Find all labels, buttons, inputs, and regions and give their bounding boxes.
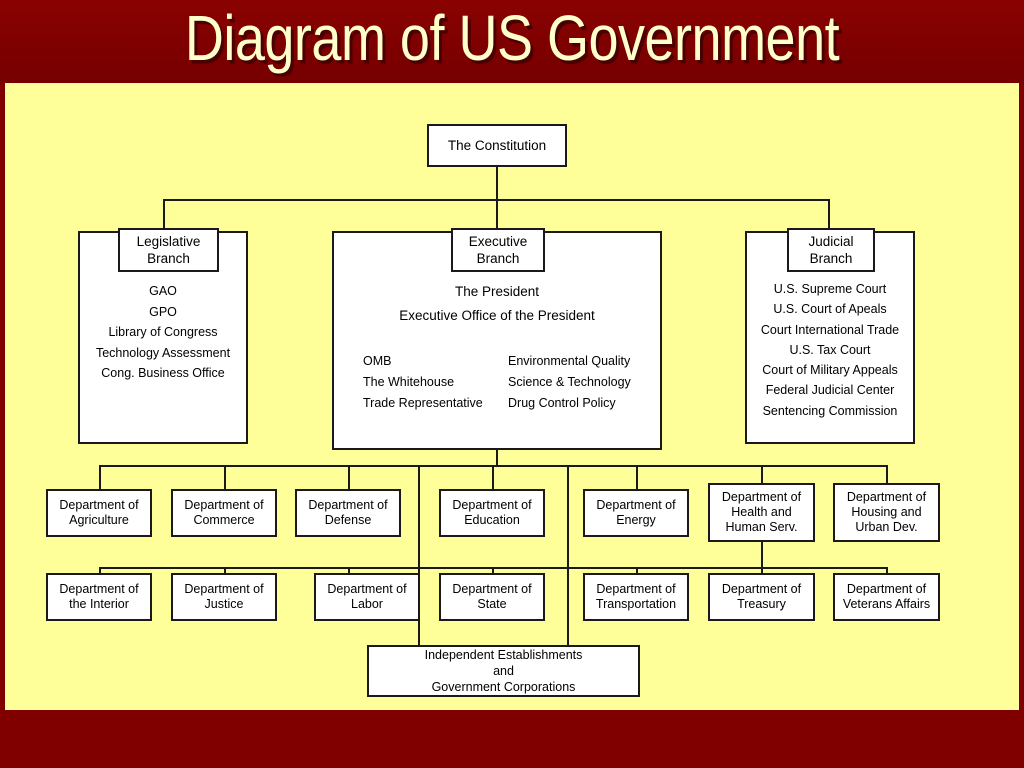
executive-left-column: OMB The Whitehouse Trade Representative: [363, 351, 483, 414]
department-line3: Urban Dev.: [855, 520, 917, 535]
department-line1: Department of: [847, 582, 926, 597]
node-department[interactable]: Department of Health and Human Serv.: [708, 483, 815, 542]
title-banner: Diagram of US Government: [0, 0, 1024, 83]
department-line2: Health and: [731, 505, 791, 520]
node-department[interactable]: Department of Commerce: [171, 489, 277, 537]
department-line1: Department of: [722, 490, 801, 505]
executive-branch-title: Executive Branch: [451, 228, 545, 272]
executive-right-item: Drug Control Policy: [508, 393, 631, 414]
legislative-item: Cong. Business Office: [78, 363, 248, 384]
connector-trunk-left: [418, 465, 420, 649]
executive-right-column: Environmental Quality Science & Technolo…: [508, 351, 631, 414]
legislative-item: Library of Congress: [78, 322, 248, 343]
department-line1: Department of: [184, 498, 263, 513]
department-line2: Energy: [616, 513, 656, 528]
judicial-branch-title-line2: Branch: [810, 250, 853, 267]
judicial-item: U.S. Court of Apeals: [743, 299, 917, 319]
department-line2: State: [477, 597, 506, 612]
node-the-constitution-label: The Constitution: [448, 138, 546, 153]
executive-left-item: The Whitehouse: [363, 372, 483, 393]
node-department[interactable]: Department of Labor: [314, 573, 420, 621]
node-department[interactable]: Department of Agriculture: [46, 489, 152, 537]
judicial-item: U.S. Supreme Court: [743, 279, 917, 299]
node-department[interactable]: Department of Justice: [171, 573, 277, 621]
slide: Diagram of US Government The Constitutio…: [0, 0, 1024, 768]
connector-constitution-drop: [496, 167, 498, 200]
judicial-item: U.S. Tax Court: [743, 340, 917, 360]
executive-right-item: Science & Technology: [508, 372, 631, 393]
legislative-branch-title: Legislative Branch: [118, 228, 219, 272]
footer-line1: Independent Establishments: [425, 647, 583, 663]
connector-row1-drop-energy: [636, 465, 638, 489]
node-department[interactable]: Department of State: [439, 573, 545, 621]
executive-branch-title-line2: Branch: [477, 250, 520, 267]
legislative-branch-title-line2: Branch: [147, 250, 190, 267]
department-line2: Transportation: [596, 597, 676, 612]
executive-right-item: Environmental Quality: [508, 351, 631, 372]
department-line1: Department of: [59, 498, 138, 513]
executive-branch-headlines: The President Executive Office of the Pr…: [332, 280, 662, 328]
department-line1: Department of: [327, 582, 406, 597]
diagram-canvas: The Constitution Legislative Branch GAO …: [5, 83, 1019, 710]
judicial-branch-items: U.S. Supreme Court U.S. Court of Apeals …: [743, 279, 917, 421]
footer-line2: and: [493, 663, 514, 679]
node-department[interactable]: Department of Transportation: [583, 573, 689, 621]
department-line2: Housing and: [851, 505, 921, 520]
department-line1: Department of: [596, 498, 675, 513]
connector-row2-feed-hhs: [761, 542, 763, 567]
department-line2: Veterans Affairs: [843, 597, 930, 612]
connector-row1-drop-agriculture: [99, 465, 101, 489]
legislative-item: GPO: [78, 302, 248, 323]
page-title: Diagram of US Government: [0, 2, 1024, 75]
department-line1: Department of: [847, 490, 926, 505]
legislative-branch-items: GAO GPO Library of Congress Technology A…: [78, 281, 248, 384]
node-department[interactable]: Department of Defense: [295, 489, 401, 537]
department-line2: Labor: [351, 597, 383, 612]
department-line2: Education: [464, 513, 520, 528]
node-department[interactable]: Department of Veterans Affairs: [833, 573, 940, 621]
department-line2: Treasury: [737, 597, 786, 612]
judicial-item: Court International Trade: [743, 320, 917, 340]
executive-left-item: Trade Representative: [363, 393, 483, 414]
department-line1: Department of: [452, 582, 531, 597]
executive-headline-eop: Executive Office of the President: [332, 304, 662, 328]
department-line1: Department of: [184, 582, 263, 597]
legislative-branch-title-line1: Legislative: [137, 233, 201, 250]
judicial-item: Sentencing Commission: [743, 401, 917, 421]
department-line2: Justice: [205, 597, 244, 612]
department-line1: Department of: [596, 582, 675, 597]
connector-row1-drop-defense: [348, 465, 350, 489]
department-line3: Human Serv.: [725, 520, 797, 535]
connector-row1-drop-commerce: [224, 465, 226, 489]
node-department[interactable]: Department of the Interior: [46, 573, 152, 621]
department-line2: Agriculture: [69, 513, 129, 528]
connector-executive-drop: [496, 450, 498, 466]
legislative-item: Technology Assessment: [78, 343, 248, 364]
footer-line3: Government Corporations: [432, 679, 576, 695]
department-line2: Defense: [325, 513, 372, 528]
judicial-branch-title: Judicial Branch: [787, 228, 875, 272]
department-line2: Commerce: [193, 513, 254, 528]
node-department[interactable]: Department of Treasury: [708, 573, 815, 621]
node-department[interactable]: Department of Education: [439, 489, 545, 537]
executive-headline-president: The President: [332, 280, 662, 304]
legislative-item: GAO: [78, 281, 248, 302]
department-line1: Department of: [722, 582, 801, 597]
department-line1: Department of: [308, 498, 387, 513]
judicial-item: Federal Judicial Center: [743, 380, 917, 400]
judicial-branch-title-line1: Judicial: [808, 233, 853, 250]
executive-branch-title-line1: Executive: [469, 233, 528, 250]
department-line2: the Interior: [69, 597, 129, 612]
department-line1: Department of: [452, 498, 531, 513]
connector-row1-drop-education: [492, 465, 494, 489]
executive-left-item: OMB: [363, 351, 483, 372]
node-independent-establishments[interactable]: Independent Establishments and Governmen…: [367, 645, 640, 697]
node-department[interactable]: Department of Housing and Urban Dev.: [833, 483, 940, 542]
judicial-item: Court of Military Appeals: [743, 360, 917, 380]
node-department[interactable]: Department of Energy: [583, 489, 689, 537]
node-the-constitution[interactable]: The Constitution: [427, 124, 567, 167]
department-line1: Department of: [59, 582, 138, 597]
connector-trunk-right: [567, 465, 569, 649]
